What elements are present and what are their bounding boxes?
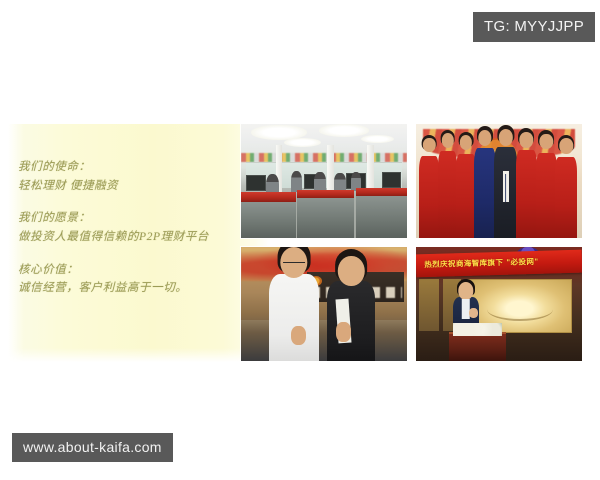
mission-line: 轻松理财 便捷融资 [18,177,254,196]
face [458,282,473,300]
gesturing-hand [469,308,478,318]
ceiling-light-icon [361,135,394,143]
cubicle-top [297,190,353,198]
podium [449,332,505,361]
values-line: 诚信经营，客户利益高于一切。 [18,279,254,298]
decorative-garland [241,153,407,162]
thumbs-up-icon [291,326,306,345]
cubicle-top [241,192,296,201]
person-red-qipao [419,156,439,238]
slide-content: 我们的使命： 轻松理财 便捷融资 我们的愿景： 做投资人最值得信赖的P2P理财平… [0,100,600,390]
person-dark-suit [494,147,517,238]
vision-heading: 我们的愿景： [18,209,254,228]
thumbs-up-icon [336,322,351,341]
person-red-qipao [456,154,476,238]
face [520,132,533,148]
pillar [327,145,334,197]
photo-reception-thumbs-up [241,247,407,361]
monitor [382,172,401,188]
banner-text: 热烈庆祝商海智库旗下 "必投网" [424,253,575,272]
face [478,130,491,146]
values-group: 核心价值： 诚信经营，客户利益高于一切。 [18,261,254,298]
mission-group: 我们的使命： 轻松理财 便捷融资 [18,158,254,195]
mission-heading: 我们的使命： [18,158,254,177]
cubicle-top [356,188,407,196]
person-red-qipao [555,157,577,238]
eyeglasses-icon [283,262,305,268]
telegram-watermark: TG: MYYJJPP [473,12,595,42]
person-white-shirt [269,274,319,361]
person-red-qipao [516,150,538,238]
cubicle-body [241,202,296,238]
face [560,138,573,154]
flower-arrangement [453,323,503,336]
website-watermark: www.about-kaifa.com [12,433,173,462]
cubicle-body [356,196,407,238]
mission-vision-values-text: 我们的使命： 轻松理财 便捷融资 我们的愿景： 做投资人最值得信赖的P2P理财平… [18,158,254,298]
vision-line: 做投资人最值得信赖的P2P理财平台 [18,228,254,247]
vision-group: 我们的愿景： 做投资人最值得信赖的P2P理财平台 [18,209,254,246]
photo-staff-group [416,124,582,238]
person-blue-dress [474,148,496,238]
photo-grid: 热烈庆祝商海智库旗下 "必投网" [241,124,582,361]
face [338,256,364,286]
photo-launch-ceremony: 热烈庆祝商海智库旗下 "必投网" [416,247,582,361]
ceiling-light-icon [284,138,321,147]
photo-office-interior [241,124,407,238]
monitor [246,175,266,191]
wall-panel [419,279,439,331]
person-black-jacket [327,281,375,361]
face [441,133,453,148]
person-red-qipao [438,151,458,238]
reception-counter [241,320,407,361]
face [540,134,553,150]
cubicle-body [297,198,353,238]
celebration-banner: 热烈庆祝商海智库旗下 "必投网" [416,249,582,276]
person-red-qipao [536,153,558,239]
face [423,138,435,153]
necktie [505,174,507,201]
ceiling-light-icon [319,124,369,137]
face [460,135,472,150]
values-heading: 核心价值： [18,261,254,280]
